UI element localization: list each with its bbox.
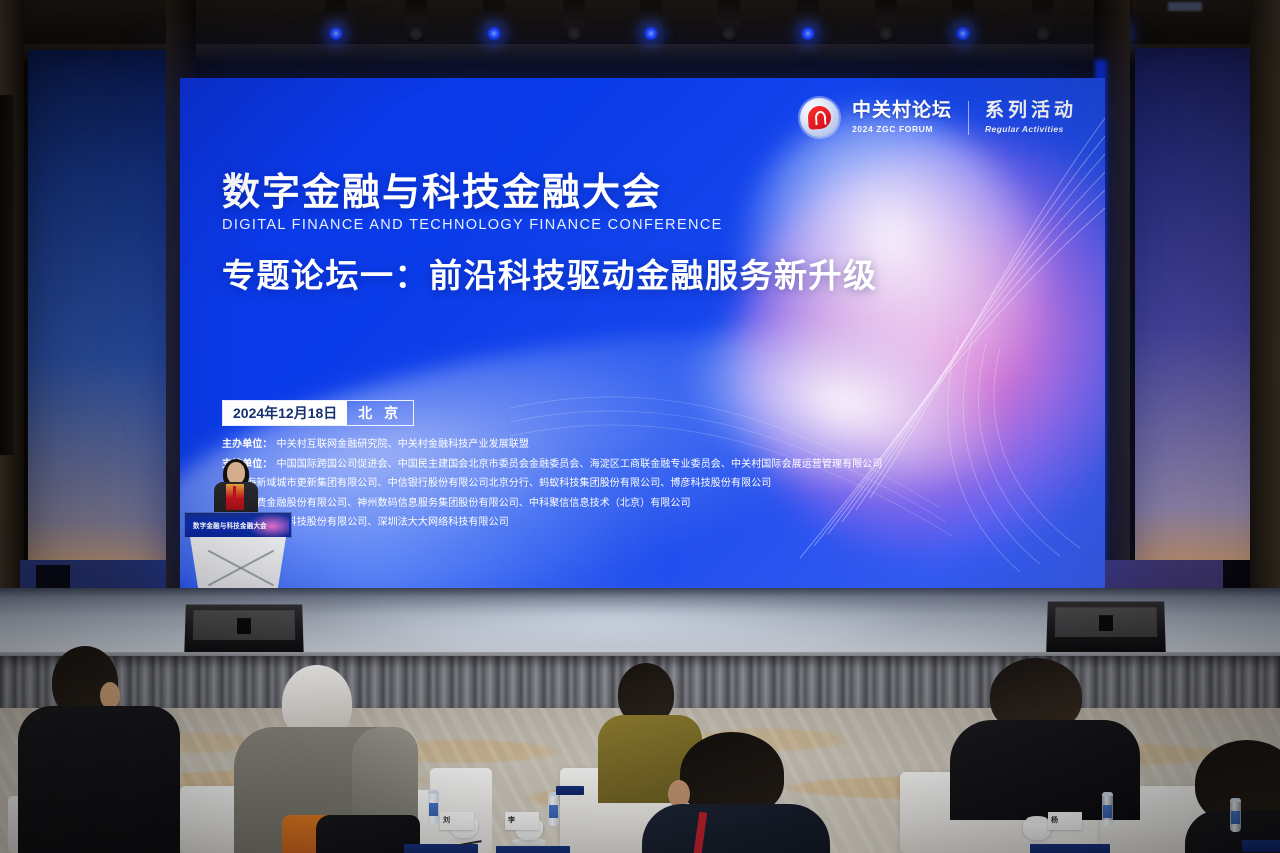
organizer-list: 主办单位：中关村互联网金融研究院、中关村金融科技产业发展联盟 支持单位：中国国际… xyxy=(222,440,883,538)
stage-light-icon xyxy=(640,0,662,42)
stage-light-icon xyxy=(483,0,505,42)
logo-secondary-text: 系列活动 Regular Activities xyxy=(985,101,1077,134)
attendee-ear xyxy=(100,682,120,709)
speaker-head xyxy=(227,462,245,484)
logo-primary-text: 中关村论坛 2024 ZGC FORUM xyxy=(852,101,952,134)
table-placard xyxy=(1242,840,1280,852)
forum-subtitle-cn: 专题论坛一：前沿科技驱动金融服务新升级 xyxy=(222,249,878,297)
water-bottle xyxy=(548,792,559,826)
table-placard xyxy=(556,786,584,795)
organizer-line: 马上消费金融股份有限公司、神州数码信息服务集团股份有限公司、中科聚信信息技术（北… xyxy=(222,499,883,509)
name-card: 李 xyxy=(505,812,539,830)
zgc-forum-logo: 中关村论坛 2024 ZGC FORUM 系列活动 Regular Activi… xyxy=(800,98,1077,137)
water-bottle xyxy=(1102,792,1113,826)
vertical-divider-icon xyxy=(968,101,969,135)
water-bottle xyxy=(1230,798,1241,832)
floor-monitor-speaker xyxy=(1046,601,1166,653)
logo-en-name: 2024 ZGC FORUM xyxy=(852,124,952,134)
logo-cn-name: 中关村论坛 xyxy=(852,101,952,122)
date-location-badge: 2024年12月18日 北 京 xyxy=(222,400,414,426)
wall-panel-lit xyxy=(28,50,166,610)
table-placard xyxy=(404,844,478,853)
led-stage-screen: 中关村论坛 2024 ZGC FORUM 系列活动 Regular Activi… xyxy=(180,78,1105,588)
organizer-value: 北京海新域城市更新集团有限公司、中信银行股份有限公司北京分行、蚂蚁科技集团股份有… xyxy=(226,478,771,489)
name-card-text: 李 xyxy=(508,815,515,825)
zgc-flame-emblem-icon xyxy=(800,98,839,137)
name-card-text: 刘 xyxy=(443,815,450,825)
screen-title-block: 数字金融与科技金融大会 DIGITAL FINANCE AND TECHNOLO… xyxy=(222,172,878,297)
right-wall xyxy=(1095,0,1280,660)
stage-light-icon xyxy=(718,0,740,42)
podium-banner: 数字金融与科技金融大会 xyxy=(184,512,292,538)
event-date: 2024年12月18日 xyxy=(223,401,347,425)
organizer-value: 中关村互联网金融研究院、中关村金融科技产业发展联盟 xyxy=(277,439,530,450)
line-array-speaker xyxy=(0,95,14,455)
organizer-value: 中国国际跨国公司促进会、中国民主建国会北京市委员会金融委员会、海淀区工商联金融专… xyxy=(277,459,883,470)
attendee-dark-suit xyxy=(18,646,178,853)
stage-light-icon xyxy=(563,0,585,42)
stage-light-icon xyxy=(1032,0,1054,42)
stage-light-icon xyxy=(405,0,427,42)
teacup xyxy=(1023,820,1051,840)
organizer-line: 支持单位：中国国际跨国公司促进会、中国民主建国会北京市委员会金融委员会、海淀区工… xyxy=(222,460,883,470)
attendee-body xyxy=(18,706,180,853)
conference-title-cn: 数字金融与科技金融大会 xyxy=(222,172,878,215)
wall-trim xyxy=(1250,0,1280,660)
podium-banner-text: 数字金融与科技金融大会 xyxy=(193,521,267,531)
floor-monitor-speaker xyxy=(184,604,304,656)
organizer-line: 北京海新域城市更新集团有限公司、中信银行股份有限公司北京分行、蚂蚁科技集团股份有… xyxy=(222,479,883,489)
name-card: 杨 xyxy=(1048,812,1082,830)
stage-light-icon xyxy=(797,0,819,42)
conference-title-en: DIGITAL FINANCE AND TECHNOLOGY FINANCE C… xyxy=(222,217,878,233)
attendee-navy-jacket xyxy=(640,732,830,853)
stage-light-icon xyxy=(952,0,974,42)
attendee-right-edge xyxy=(1195,740,1280,853)
organizer-value: 马上消费金融股份有限公司、神州数码信息服务集团股份有限公司、中科聚信信息技术（北… xyxy=(226,498,691,509)
organizer-line: 主办单位：中关村互联网金融研究院、中关村金融科技产业发展联盟 xyxy=(222,440,883,450)
stage-light-icon xyxy=(325,0,347,42)
logo-cn-sub: 系列活动 xyxy=(985,101,1077,122)
name-card: 刘 xyxy=(440,812,474,830)
logo-en-sub: Regular Activities xyxy=(985,124,1077,134)
name-card-text: 杨 xyxy=(1051,815,1058,825)
attendee-black-jacket xyxy=(950,658,1150,798)
table-placard xyxy=(1030,844,1110,853)
stage-light-icon xyxy=(875,0,897,42)
table-placard xyxy=(496,846,570,853)
stage-light-reflection xyxy=(300,600,920,654)
attendee-body xyxy=(642,804,830,853)
speaker-lanyard xyxy=(233,486,236,502)
organizer-label: 主办单位： xyxy=(222,439,273,450)
organizer-line: 上海合合信息科技股份有限公司、深圳法大大网络科技有限公司 xyxy=(222,518,883,528)
event-city: 北 京 xyxy=(347,401,413,425)
water-bottle xyxy=(428,790,439,824)
conference-hall-scene: 中关村论坛 2024 ZGC FORUM 系列活动 Regular Activi… xyxy=(0,0,1280,853)
attendee-grey-sweater xyxy=(230,665,420,853)
